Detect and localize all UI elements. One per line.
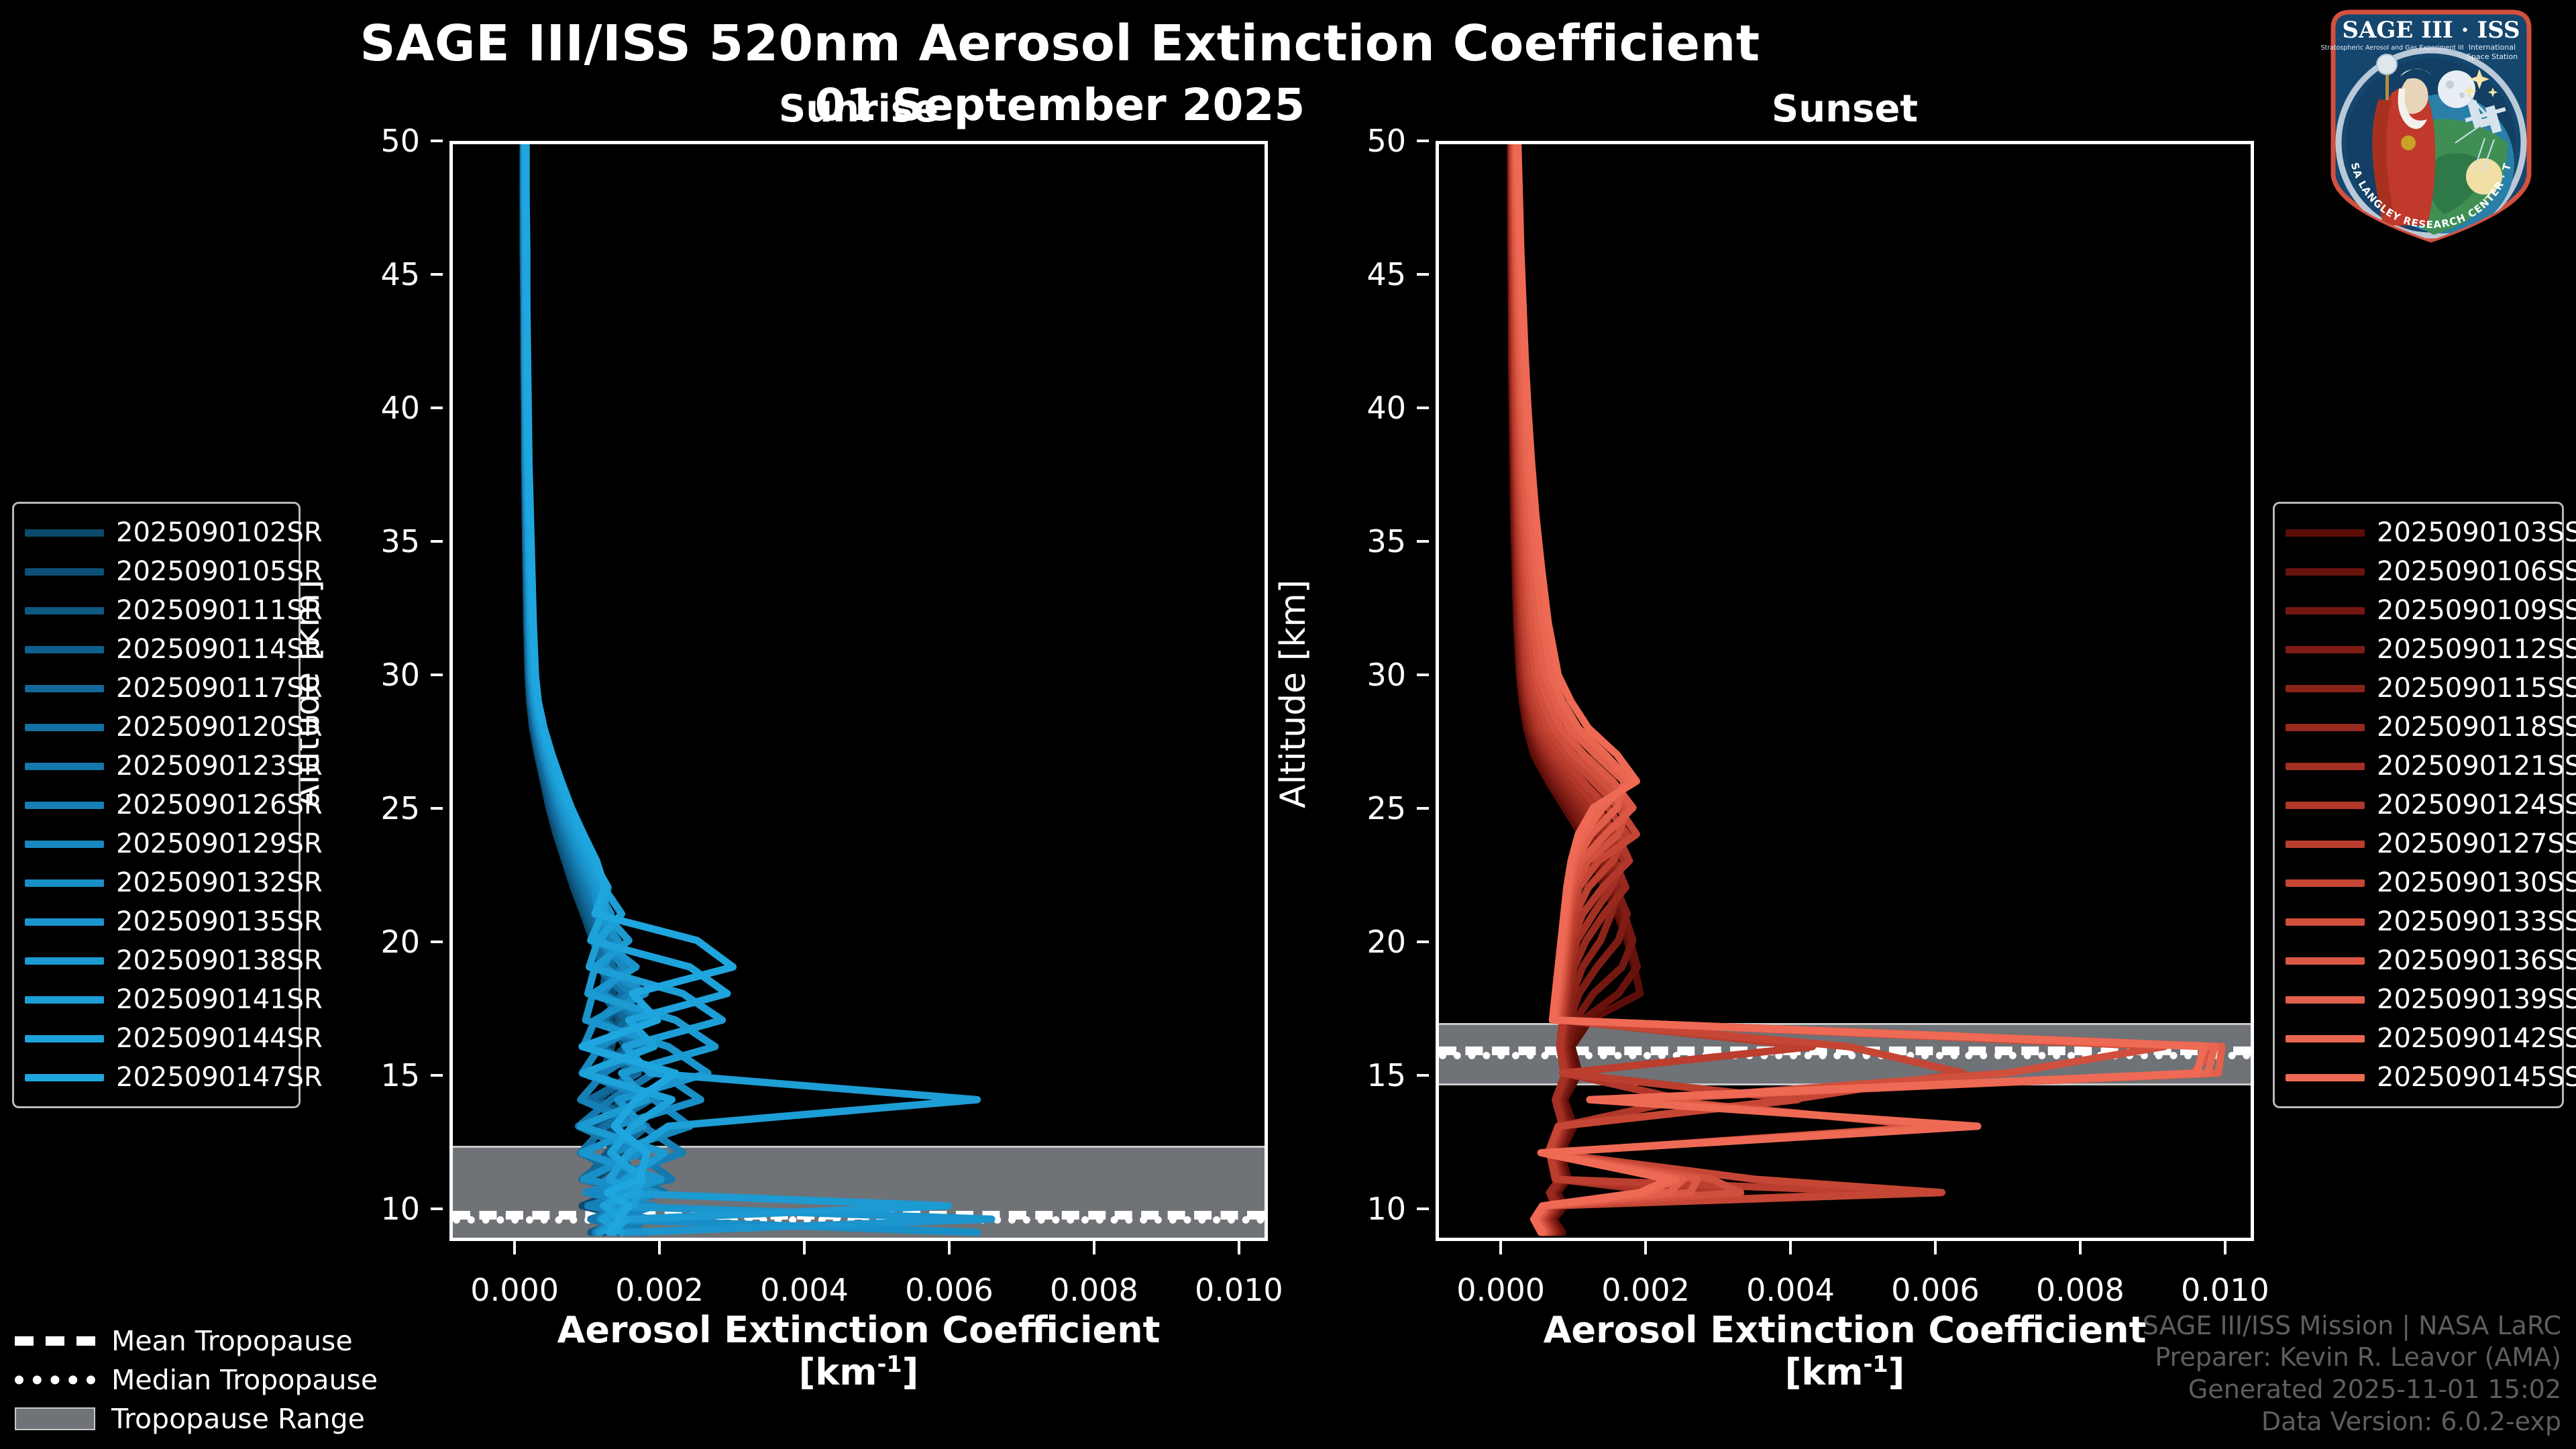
legend-item[interactable]: 2025090114SR — [25, 630, 288, 669]
x-tick-mark-0.004 — [803, 1241, 806, 1254]
unit-close: ] — [902, 1351, 919, 1393]
sunset-y-axis-label: Altitude [km] — [1273, 580, 1313, 808]
sunrise-legend-swatch-2025090129SR — [25, 841, 104, 848]
x-tick-label-0.002: 0.002 — [615, 1272, 704, 1308]
sunset-legend-label-2025090124SS: 2025090124SS — [2377, 790, 2576, 820]
sunset-legend-label-2025090127SS: 2025090127SS — [2377, 828, 2576, 859]
y-tick-mark-15 — [431, 1074, 443, 1077]
legend-item[interactable]: 2025090118SS — [2286, 708, 2551, 747]
sunrise-legend-label-2025090123SR: 2025090123SR — [116, 751, 323, 782]
x-tick-mark-0.010 — [1238, 1241, 1240, 1254]
x-tick-label-0.006: 0.006 — [905, 1272, 994, 1308]
sunset-legend-swatch-2025090115SS — [2286, 685, 2365, 692]
sunset-legend-swatch-2025090139SS — [2286, 996, 2365, 1004]
sunrise-legend-label-2025090144SR: 2025090144SR — [116, 1023, 323, 1054]
y-tick-label-15: 15 — [380, 1057, 420, 1093]
sunset-legend-label-2025090103SS: 2025090103SS — [2377, 517, 2576, 548]
y-tick-mark-50 — [1417, 140, 1429, 142]
sunrise-series-lines — [453, 144, 1265, 1238]
y-tick-label-40: 40 — [380, 390, 420, 426]
legend-item[interactable]: 2025090144SR — [25, 1019, 288, 1058]
x-tick-mark-0.000 — [513, 1241, 516, 1254]
sunrise-legend-label-2025090141SR: 2025090141SR — [116, 984, 323, 1015]
legend-item[interactable]: 2025090141SR — [25, 980, 288, 1019]
y-tick-label-10: 10 — [1366, 1191, 1406, 1227]
y-tick-label-35: 35 — [380, 523, 420, 559]
sunrise-legend-swatch-2025090132SR — [25, 879, 104, 887]
patch-subtitle-right-1: International — [2469, 43, 2516, 52]
x-tick-mark-0.004 — [1789, 1241, 1792, 1254]
sunrise-panel-title: Sunrise — [449, 87, 1268, 131]
legend-item[interactable]: 2025090115SS — [2286, 669, 2551, 708]
x-tick-label-0.004: 0.004 — [760, 1272, 849, 1308]
y-tick-label-30: 30 — [1366, 657, 1406, 693]
sunrise-legend-swatch-2025090102SR — [25, 529, 104, 537]
patch-staff-orb — [2377, 54, 2397, 74]
sunset-legend-swatch-2025090112SS — [2286, 646, 2365, 653]
sunrise-legend-label-2025090102SR: 2025090102SR — [116, 517, 323, 548]
page-title: SAGE III/ISS 520nm Aerosol Extinction Co… — [0, 15, 2120, 72]
sunrise-legend-swatch-2025090126SR — [25, 802, 104, 809]
sunset-x-axis-label: Aerosol Extinction Coefficient [km-1] — [1436, 1309, 2254, 1393]
figure-canvas: SAGE III/ISS 520nm Aerosol Extinction Co… — [0, 0, 2576, 1449]
sunrise-legend-swatch-2025090135SR — [25, 918, 104, 926]
x-tick-label-0.008: 0.008 — [1050, 1272, 1138, 1308]
y-tick-mark-45 — [1417, 273, 1429, 276]
sunset-series-lines — [1439, 144, 2251, 1238]
legend-item[interactable]: 2025090121SS — [2286, 747, 2551, 786]
sunrise-legend-label-2025090129SR: 2025090129SR — [116, 828, 323, 859]
tropopause-legend-item: Mean Tropopause — [15, 1322, 364, 1360]
sunset-y-axis: 101520253035404550 — [1335, 141, 1429, 1241]
sunset-legend-swatch-2025090103SS — [2286, 529, 2365, 537]
sunset-legend-label-2025090136SS: 2025090136SS — [2377, 945, 2576, 976]
legend-item[interactable]: 2025090142SS — [2286, 1019, 2551, 1058]
legend-item[interactable]: 2025090135SR — [25, 902, 288, 941]
y-tick-mark-40 — [431, 407, 443, 409]
sunset-legend-label-2025090118SS: 2025090118SS — [2377, 712, 2576, 743]
y-tick-label-40: 40 — [1366, 390, 1406, 426]
unit-exponent: -1 — [1863, 1351, 1888, 1377]
tropopause-legend: Mean TropopauseMedian TropopauseTropopau… — [15, 1322, 364, 1438]
legend-item[interactable]: 2025090133SS — [2286, 902, 2551, 941]
y-tick-label-30: 30 — [380, 657, 420, 693]
tropopause-legend-item: Tropopause Range — [15, 1399, 364, 1438]
mean-tropopause-key-icon — [15, 1332, 95, 1350]
x-tick-mark-0.006 — [1934, 1241, 1937, 1254]
median-tropopause-key-icon — [15, 1371, 95, 1389]
sunrise-legend-swatch-2025090144SR — [25, 1035, 104, 1042]
sunset-legend-label-2025090106SS: 2025090106SS — [2377, 556, 2576, 587]
tropopause-range-key-icon — [15, 1410, 95, 1428]
y-tick-mark-25 — [1417, 807, 1429, 810]
x-tick-label-0.010: 0.010 — [1195, 1272, 1283, 1308]
sunset-legend-swatch-2025090133SS — [2286, 918, 2365, 926]
y-tick-label-45: 45 — [380, 256, 420, 292]
sunset-legend-label-2025090109SS: 2025090109SS — [2377, 595, 2576, 626]
legend-item[interactable]: 2025090147SR — [25, 1058, 288, 1097]
sunrise-legend-swatch-2025090138SR — [25, 957, 104, 965]
sunrise-y-axis: 101520253035404550 — [349, 141, 443, 1241]
x-tick-mark-0.008 — [1093, 1241, 1095, 1254]
y-tick-label-50: 50 — [1366, 123, 1406, 159]
sunset-legend-swatch-2025090121SS — [2286, 763, 2365, 770]
x-tick-label-0.000: 0.000 — [470, 1272, 559, 1308]
unit-close: ] — [1888, 1351, 1905, 1393]
legend-item[interactable]: 2025090124SS — [2286, 786, 2551, 824]
y-tick-mark-35 — [431, 540, 443, 543]
sunset-panel-title: Sunset — [1436, 87, 2254, 131]
sunrise-legend-label-2025090132SR: 2025090132SR — [116, 867, 323, 898]
sunset-legend-swatch-2025090130SS — [2286, 879, 2365, 887]
y-tick-mark-30 — [1417, 674, 1429, 676]
y-tick-mark-35 — [1417, 540, 1429, 543]
sunrise-legend-label-2025090105SR: 2025090105SR — [116, 556, 323, 587]
series-line-2025090127SS — [1513, 144, 1906, 1232]
sunset-legend-label-2025090121SS: 2025090121SS — [2377, 751, 2576, 782]
legend-item[interactable]: 2025090109SS — [2286, 591, 2551, 630]
legend-item[interactable]: 2025090103SS — [2286, 513, 2551, 552]
legend-item[interactable]: 2025090145SS — [2286, 1058, 2551, 1097]
patch-moon-crater-2 — [2459, 93, 2465, 98]
legend-item[interactable]: 2025090136SS — [2286, 941, 2551, 980]
sunset-legend-swatch-2025090145SS — [2286, 1074, 2365, 1081]
dotted-line-icon — [15, 1376, 95, 1385]
patch-subtitle-right-2: Space Station — [2467, 52, 2518, 61]
x-tick-label-0.002: 0.002 — [1601, 1272, 1690, 1308]
unit-open: [km — [799, 1351, 877, 1393]
sunrise-x-axis-unit: [km-1] — [449, 1352, 1268, 1394]
sunrise-legend-swatch-2025090147SR — [25, 1074, 104, 1081]
sunset-x-axis-unit: [km-1] — [1436, 1352, 2254, 1394]
unit-open: [km — [1785, 1351, 1864, 1393]
y-tick-mark-10 — [1417, 1207, 1429, 1210]
legend-item[interactable]: 2025090102SR — [25, 513, 288, 552]
legend-item[interactable]: 2025090106SS — [2286, 552, 2551, 591]
x-tick-mark-0.002 — [1644, 1241, 1647, 1254]
legend-item[interactable]: 2025090105SR — [25, 552, 288, 591]
sunrise-legend-label-2025090135SR: 2025090135SR — [116, 906, 323, 937]
y-tick-label-35: 35 — [1366, 523, 1406, 559]
sunrise-legend-swatch-2025090141SR — [25, 996, 104, 1004]
y-tick-label-20: 20 — [1366, 924, 1406, 960]
sunrise-legend-label-2025090138SR: 2025090138SR — [116, 945, 323, 976]
y-tick-label-25: 25 — [380, 790, 420, 826]
sunrise-legend-swatch-2025090117SR — [25, 685, 104, 692]
y-tick-mark-20 — [1417, 941, 1429, 943]
patch-moon-crater — [2446, 80, 2454, 89]
legend-item[interactable]: 2025090129SR — [25, 824, 288, 863]
sunrise-legend-label-2025090114SR: 2025090114SR — [116, 634, 323, 665]
sunrise-plot-panel — [449, 141, 1268, 1241]
sunset-legend-swatch-2025090127SS — [2286, 841, 2365, 848]
sunset-legend-swatch-2025090142SS — [2286, 1035, 2365, 1042]
legend-item[interactable]: 2025090120SR — [25, 708, 288, 747]
y-tick-mark-50 — [431, 140, 443, 142]
sunrise-legend-label-2025090120SR: 2025090120SR — [116, 712, 323, 743]
y-tick-label-10: 10 — [380, 1191, 420, 1227]
tropopause-legend-label: Tropopause Range — [111, 1403, 365, 1435]
x-tick-mark-0.002 — [658, 1241, 661, 1254]
x-tick-label-0.000: 0.000 — [1456, 1272, 1545, 1308]
legend-item[interactable]: 2025090127SS — [2286, 824, 2551, 863]
y-tick-mark-25 — [431, 807, 443, 810]
sunrise-legend-swatch-2025090123SR — [25, 763, 104, 770]
y-tick-mark-40 — [1417, 407, 1429, 409]
sunset-legend[interactable]: 2025090103SS2025090106SS2025090109SS2025… — [2273, 502, 2564, 1108]
sunrise-plot-area — [453, 144, 1265, 1238]
legend-item[interactable]: 2025090117SR — [25, 669, 288, 708]
x-tick-label-0.004: 0.004 — [1746, 1272, 1835, 1308]
y-tick-label-15: 15 — [1366, 1057, 1406, 1093]
sunrise-legend-swatch-2025090114SR — [25, 646, 104, 653]
dashed-line-icon — [15, 1336, 95, 1346]
credits-line: Generated 2025-11-01 15:02 — [2143, 1374, 2561, 1406]
patch-belt-buckle — [2401, 136, 2416, 150]
sunset-legend-label-2025090130SS: 2025090130SS — [2377, 867, 2576, 898]
sunset-legend-swatch-2025090136SS — [2286, 957, 2365, 965]
legend-item[interactable]: 2025090132SR — [25, 863, 288, 902]
sunrise-legend-swatch-2025090111SR — [25, 607, 104, 614]
y-tick-mark-30 — [431, 674, 443, 676]
sunrise-legend[interactable]: 2025090102SR2025090105SR2025090111SR2025… — [12, 502, 301, 1108]
tropopause-legend-label: Median Tropopause — [111, 1364, 378, 1396]
sage-iii-iss-mission-patch-logo: SAGE III · ISS Stratospheric Aerosol and… — [2306, 5, 2556, 247]
sunrise-x-axis-label: Aerosol Extinction Coefficient [km-1] — [449, 1309, 1268, 1393]
y-tick-mark-45 — [431, 273, 443, 276]
legend-item[interactable]: 2025090130SS — [2286, 863, 2551, 902]
y-tick-mark-20 — [431, 941, 443, 943]
tropopause-legend-item: Median Tropopause — [15, 1360, 364, 1399]
tropopause-legend-label: Mean Tropopause — [111, 1325, 353, 1357]
legend-item[interactable]: 2025090112SS — [2286, 630, 2551, 669]
y-tick-mark-15 — [1417, 1074, 1429, 1077]
sunset-x-axis-label-text: Aerosol Extinction Coefficient — [1544, 1309, 2147, 1351]
legend-item[interactable]: 2025090111SR — [25, 591, 288, 630]
legend-item[interactable]: 2025090123SR — [25, 747, 288, 786]
sunset-plot-area — [1439, 144, 2251, 1238]
legend-item[interactable]: 2025090126SR — [25, 786, 288, 824]
x-tick-mark-0.008 — [2079, 1241, 2082, 1254]
y-tick-label-20: 20 — [380, 924, 420, 960]
sunset-legend-label-2025090115SS: 2025090115SS — [2377, 673, 2576, 704]
patch-title: SAGE III · ISS — [2342, 17, 2520, 44]
sunset-legend-label-2025090133SS: 2025090133SS — [2377, 906, 2576, 937]
y-tick-label-50: 50 — [380, 123, 420, 159]
sunrise-legend-swatch-2025090105SR — [25, 568, 104, 576]
x-tick-label-0.010: 0.010 — [2181, 1272, 2269, 1308]
sunset-legend-label-2025090145SS: 2025090145SS — [2377, 1062, 2576, 1093]
unit-exponent: -1 — [877, 1351, 902, 1377]
x-tick-mark-0.010 — [2224, 1241, 2226, 1254]
legend-item[interactable]: 2025090139SS — [2286, 980, 2551, 1019]
y-tick-label-25: 25 — [1366, 790, 1406, 826]
credits-line: Preparer: Kevin R. Leavor (AMA) — [2143, 1342, 2561, 1374]
filled-band-icon — [15, 1407, 95, 1430]
patch-subtitle-left: Stratospheric Aerosol and Gas Experiment… — [2320, 44, 2463, 52]
sunset-legend-swatch-2025090109SS — [2286, 607, 2365, 614]
sunset-legend-swatch-2025090106SS — [2286, 568, 2365, 576]
sunrise-legend-label-2025090111SR: 2025090111SR — [116, 595, 323, 626]
y-tick-mark-10 — [431, 1207, 443, 1210]
sunset-legend-label-2025090112SS: 2025090112SS — [2377, 634, 2576, 665]
sunrise-legend-label-2025090117SR: 2025090117SR — [116, 673, 323, 704]
x-tick-mark-0.006 — [948, 1241, 951, 1254]
sunrise-legend-label-2025090147SR: 2025090147SR — [116, 1062, 323, 1093]
sunrise-legend-label-2025090126SR: 2025090126SR — [116, 790, 323, 820]
credits-block: SAGE III/ISS Mission | NASA LaRCPreparer… — [2143, 1310, 2561, 1439]
patch-artwork — [2339, 50, 2524, 235]
sunset-legend-swatch-2025090118SS — [2286, 724, 2365, 731]
sunset-legend-label-2025090139SS: 2025090139SS — [2377, 984, 2576, 1015]
credits-line: Data Version: 6.0.2-exp — [2143, 1406, 2561, 1438]
sunrise-legend-swatch-2025090120SR — [25, 724, 104, 731]
x-tick-label-0.008: 0.008 — [2036, 1272, 2125, 1308]
sunset-legend-label-2025090142SS: 2025090142SS — [2377, 1023, 2576, 1054]
sunset-plot-panel — [1436, 141, 2254, 1241]
x-tick-mark-0.000 — [1499, 1241, 1502, 1254]
x-tick-label-0.006: 0.006 — [1891, 1272, 1980, 1308]
legend-item[interactable]: 2025090138SR — [25, 941, 288, 980]
credits-line: SAGE III/ISS Mission | NASA LaRC — [2143, 1310, 2561, 1342]
sunrise-x-axis-label-text: Aerosol Extinction Coefficient — [557, 1309, 1161, 1351]
y-tick-label-45: 45 — [1366, 256, 1406, 292]
sunset-legend-swatch-2025090124SS — [2286, 802, 2365, 809]
mission-patch-svg: SAGE III · ISS Stratospheric Aerosol and… — [2306, 5, 2556, 247]
